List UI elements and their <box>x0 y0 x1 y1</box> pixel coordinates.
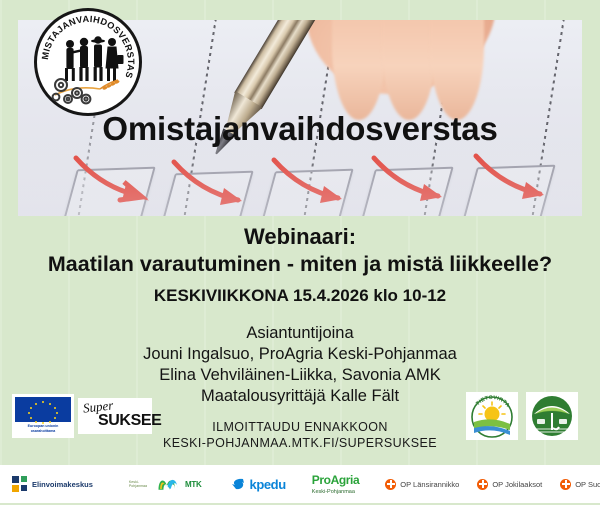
webinar-label: Webinaari: <box>0 224 600 250</box>
poster-root: OMISTAJANVAIHDOSVERSTAS <box>0 0 600 503</box>
kpedu-mark-icon <box>231 477 245 491</box>
omistajanvaihdosverstas-logo: OMISTAJANVAIHDOSVERSTAS <box>34 8 142 116</box>
op-logo-icon <box>385 479 396 490</box>
eu-funding-caption: Euroopan unionin osarahoittama <box>15 424 71 434</box>
logo-op-jokilaaksot-label: OP Jokilaaksot <box>492 480 542 489</box>
logo-proagria: ProAgria Keski-Pohjanmaa <box>312 473 359 495</box>
eu-caption-line2: osarahoittama <box>15 429 71 434</box>
supersuksee-logo: Super SUKSEE <box>78 398 152 434</box>
logo-op-jokilaaksot: OP Jokilaaksot <box>477 479 542 490</box>
suksee-main-word: SUKSEE <box>98 412 161 430</box>
tietovirta-logo: TIETOVIRTA <box>466 392 518 440</box>
ely-mark-icon <box>12 476 28 492</box>
webinar-topic: Maatilan varautuminen - miten ja mistä l… <box>0 252 600 277</box>
logo-kpedu: kpedu <box>231 477 285 492</box>
op-logo-icon <box>477 479 488 490</box>
logo-op-lansirannikko: OP Länsirannikko <box>385 479 459 490</box>
experts-heading: Asiantuntijoina <box>0 323 600 344</box>
logo-mtk-label: MTK <box>185 480 201 489</box>
expert-item: Elina Vehviläinen-Liikka, Savonia AMK <box>0 365 600 386</box>
logo-ely: Elinvoimakeskus <box>12 476 93 492</box>
logo-mtk-sub: Keski-Pohjanmaa <box>129 480 152 488</box>
logo-ely-label: Elinvoimakeskus <box>32 480 93 489</box>
op-logo-icon <box>560 479 571 490</box>
logo-op-suomenselka-label: OP Suomenselkä <box>575 480 600 489</box>
mtk-mark-icon <box>156 473 181 495</box>
partner-logo-bar: Elinvoimakeskus Keski-Pohjanmaa MTK kped… <box>0 465 600 503</box>
logo-op-suomenselka: OP Suomenselkä <box>560 479 600 490</box>
eu-flag-icon <box>15 397 71 422</box>
logo-proagria-sub: Keski-Pohjanmaa <box>312 489 355 495</box>
eu-funding-logo: Euroopan unionin osarahoittama <box>12 394 74 438</box>
logo-op-lansirannikko-label: OP Länsirannikko <box>400 480 459 489</box>
logo-kpedu-label: kpedu <box>249 477 285 492</box>
mela-logo <box>526 392 578 440</box>
page-title: Omistajanvaihdosverstas <box>0 110 600 148</box>
logo-proagria-label: ProAgria <box>312 473 359 487</box>
expert-item: Jouni Ingalsuo, ProAgria Keski-Pohjanmaa <box>0 344 600 365</box>
webinar-date: KESKIVIIKKONA 15.4.2026 klo 10-12 <box>0 286 600 306</box>
logo-mtk: Keski-Pohjanmaa MTK <box>129 473 202 495</box>
